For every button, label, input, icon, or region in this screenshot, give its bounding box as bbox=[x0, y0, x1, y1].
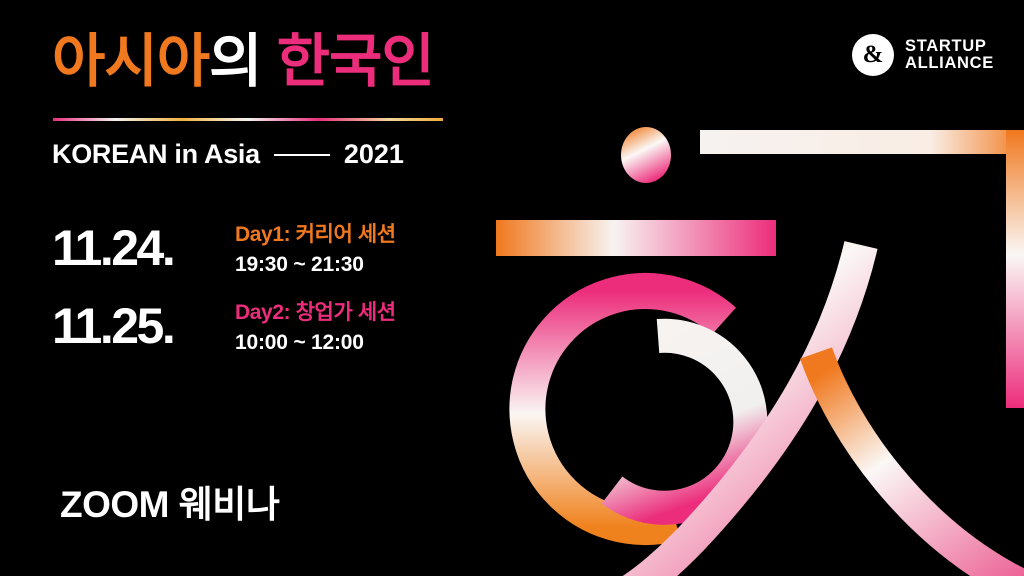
schedule-date: 11.25. bbox=[52, 296, 235, 357]
left-content-column: 아시아의 한국인 KOREAN in Asia 2021 11.24. Day1… bbox=[52, 0, 512, 576]
subtitle-dash bbox=[274, 154, 330, 156]
schedule-row: 11.25. Day2: 창업가 세션 10:00 ~ 12:00 bbox=[52, 296, 396, 374]
brand-line-1: STARTUP bbox=[905, 38, 994, 55]
han-leg-right bbox=[816, 353, 1024, 576]
platform-label: ZOOM 웨비나 bbox=[60, 474, 279, 528]
han-giyeok-stem bbox=[1006, 130, 1024, 408]
subtitle-row: KOREAN in Asia 2021 bbox=[52, 139, 404, 170]
han-dot bbox=[621, 127, 671, 183]
poster-canvas: & STARTUP ALLIANCE 아시아의 한국인 KOREAN in As… bbox=[0, 0, 1024, 576]
schedule-details: Day1: 커리어 세션 19:30 ~ 21:30 bbox=[235, 218, 396, 280]
schedule-time: 19:30 ~ 21:30 bbox=[235, 250, 396, 280]
schedule-details: Day2: 창업가 세션 10:00 ~ 12:00 bbox=[235, 296, 396, 358]
schedule-session-label: Day1: 커리어 세션 bbox=[235, 221, 396, 250]
schedule-time: 10:00 ~ 12:00 bbox=[235, 328, 396, 358]
schedule-date: 11.24. bbox=[52, 218, 235, 279]
schedule-session-label: Day2: 창업가 세션 bbox=[235, 299, 396, 328]
title-segment-asia: 아시아 bbox=[52, 29, 209, 94]
subtitle-text: KOREAN in Asia bbox=[52, 139, 260, 170]
startup-alliance-logo: & STARTUP ALLIANCE bbox=[852, 34, 994, 76]
han-hieut-bar bbox=[496, 220, 776, 256]
schedule-list: 11.24. Day1: 커리어 세션 19:30 ~ 21:30 11.25.… bbox=[52, 218, 396, 374]
event-year: 2021 bbox=[344, 139, 404, 170]
brand-line-2: ALLIANCE bbox=[905, 55, 994, 72]
ampersand-icon: & bbox=[852, 34, 894, 76]
title-segment-korean: 한국인 bbox=[277, 29, 434, 94]
brand-wordmark: STARTUP ALLIANCE bbox=[905, 38, 994, 73]
han-giyeok-top bbox=[700, 130, 1024, 154]
title-divider bbox=[53, 118, 443, 121]
page-title: 아시아의 한국인 bbox=[52, 29, 434, 96]
hero-han-glyph bbox=[486, 108, 1024, 576]
svg-text:&: & bbox=[863, 41, 884, 68]
title-segment-possessive: 의 bbox=[209, 29, 261, 94]
schedule-row: 11.24. Day1: 커리어 세션 19:30 ~ 21:30 bbox=[52, 218, 396, 296]
